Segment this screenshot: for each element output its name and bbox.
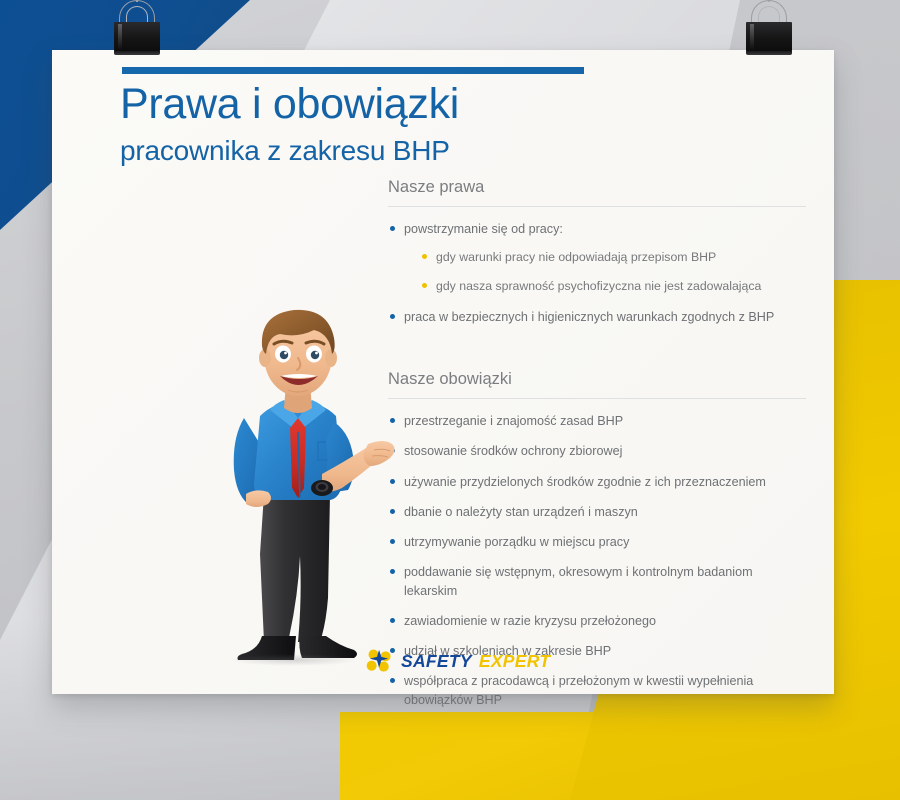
clip-highlight xyxy=(750,24,754,50)
flower-star-icon xyxy=(366,648,394,674)
content-column: Nasze prawa powstrzymanie się od pracy: … xyxy=(388,178,806,727)
sub-list-item: gdy nasza sprawność psychofizyczna nie j… xyxy=(421,278,806,296)
list-item: współpraca z pracodawcą i przełożonym w … xyxy=(388,672,806,709)
logo-word-expert: EXPERT xyxy=(479,651,551,672)
left-pupil xyxy=(280,351,288,359)
list-item: poddawanie się wstępnym, okresowym i kon… xyxy=(388,563,806,600)
paper-sheet: Prawa i obowiązki pracownika z zakresu B… xyxy=(52,50,834,694)
list-item: stosowanie środków ochrony zbiorowej xyxy=(388,442,806,460)
brand-logo: SAFETY EXPERT xyxy=(366,646,556,676)
cartoon-businessman-illustration xyxy=(202,298,402,668)
clip-highlight xyxy=(118,24,122,50)
page-subtitle: pracownika z zakresu BHP xyxy=(120,135,450,167)
list-item-text: powstrzymanie się od pracy: xyxy=(404,222,563,236)
section-divider xyxy=(388,398,806,399)
illustration-ground-shadow xyxy=(230,654,358,666)
list-item: przestrzeganie i znajomość zasad BHP xyxy=(388,412,806,430)
right-pupil xyxy=(311,351,319,359)
page-title: Prawa i obowiązki xyxy=(120,80,459,129)
section-heading: Nasze obowiązki xyxy=(388,370,806,398)
list-item: używanie przydzielonych środków zgodnie … xyxy=(388,473,806,491)
right-hand xyxy=(364,441,395,466)
binder-clip-right xyxy=(738,0,800,58)
list-item: utrzymywanie porządku w miejscu pracy xyxy=(388,533,806,551)
infographic-poster: Prawa i obowiązki pracownika z zakresu B… xyxy=(0,0,900,800)
rights-list: powstrzymanie się od pracy: gdy warunki … xyxy=(388,220,806,326)
trousers xyxy=(260,494,330,642)
section-heading: Nasze prawa xyxy=(388,178,806,206)
list-item: praca w bezpiecznych i higienicznych war… xyxy=(388,308,806,326)
section-divider xyxy=(388,206,806,207)
list-item: zawiadomienie w razie kryzysu przełożone… xyxy=(388,612,806,630)
businessman-svg xyxy=(202,298,402,668)
right-ear xyxy=(325,349,337,367)
logo-word-safety: SAFETY xyxy=(401,651,472,672)
wristwatch-dial xyxy=(318,484,326,490)
binder-clip-left xyxy=(106,0,168,58)
list-item: powstrzymanie się od pracy: gdy warunki … xyxy=(388,220,806,296)
left-eye-glint xyxy=(284,352,287,355)
right-eye-glint xyxy=(315,352,318,355)
title-accent-bar xyxy=(122,67,584,74)
sub-list-item: gdy warunki pracy nie odpowiadają przepi… xyxy=(421,249,806,267)
rights-sublist: gdy warunki pracy nie odpowiadają przepi… xyxy=(421,249,806,296)
section-rights: Nasze prawa powstrzymanie się od pracy: … xyxy=(388,178,806,326)
section-spacer xyxy=(388,344,806,370)
list-item: dbanie o należyty stan urządzeń i maszyn xyxy=(388,503,806,521)
